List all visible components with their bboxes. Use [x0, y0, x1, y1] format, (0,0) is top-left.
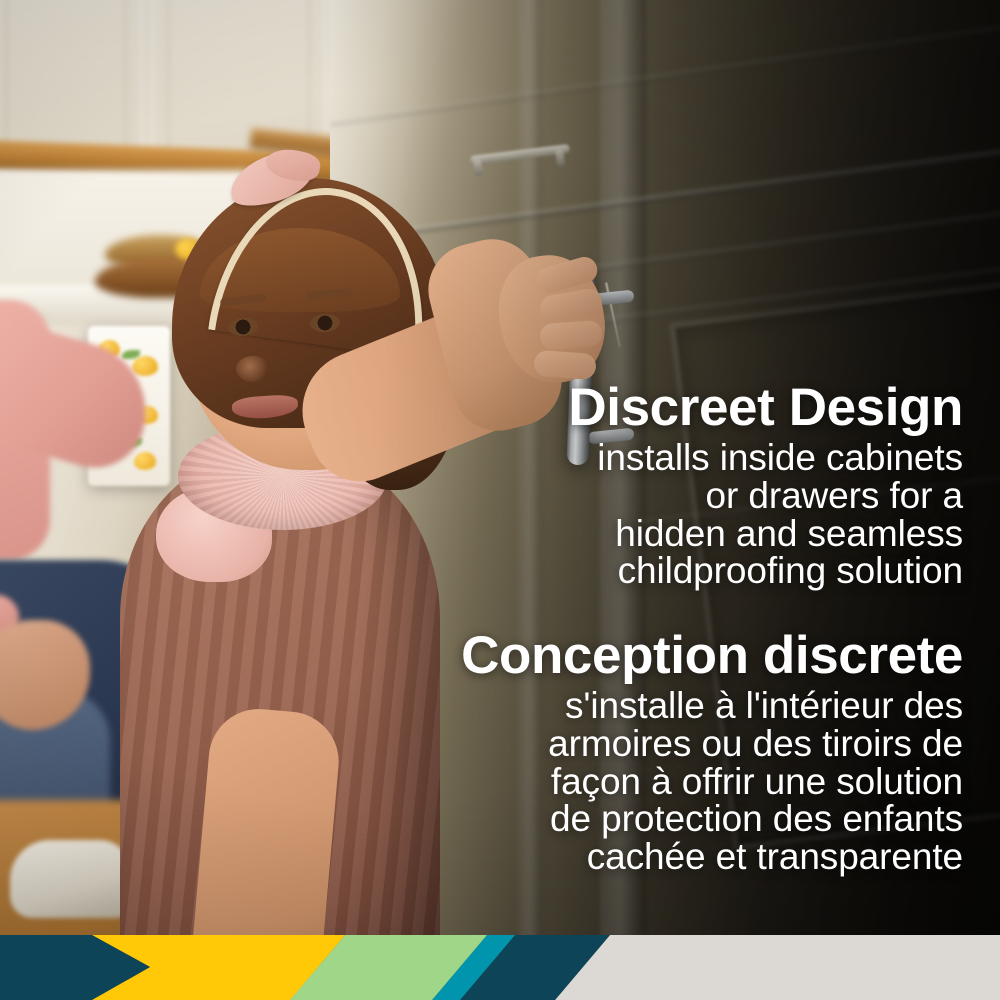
french-subcopy-line: cachée et transparente	[323, 838, 963, 876]
french-subcopy-line: de protection des enfants	[323, 800, 963, 838]
french-headline: Conception discrete	[323, 628, 963, 683]
french-subcopy-line: armoires ou des tiroirs de	[323, 725, 963, 763]
french-subcopy: s'installe à l'intérieur des armoires ou…	[323, 687, 963, 876]
french-copy-block: Conception discrete s'installe à l'intér…	[323, 628, 963, 876]
french-subcopy-line: façon à offrir une solution	[323, 763, 963, 801]
english-subcopy: installs inside cabinets or drawers for …	[323, 439, 963, 590]
marketing-copy: Discreet Design installs inside cabinets…	[323, 380, 963, 876]
french-subcopy-line: s'installe à l'intérieur des	[323, 687, 963, 725]
light-gray-field	[555, 935, 1000, 1000]
english-subcopy-line: installs inside cabinets	[323, 439, 963, 477]
chevron-stripes	[0, 935, 1000, 1000]
marketing-image: Discreet Design installs inside cabinets…	[0, 0, 1000, 1000]
english-subcopy-line: hidden and seamless	[323, 515, 963, 553]
brand-chevron-band	[0, 935, 1000, 1000]
english-subcopy-line: or drawers for a	[323, 477, 963, 515]
english-subcopy-line: childproofing solution	[323, 552, 963, 590]
english-copy-block: Discreet Design installs inside cabinets…	[323, 380, 963, 590]
english-headline: Discreet Design	[323, 380, 963, 435]
